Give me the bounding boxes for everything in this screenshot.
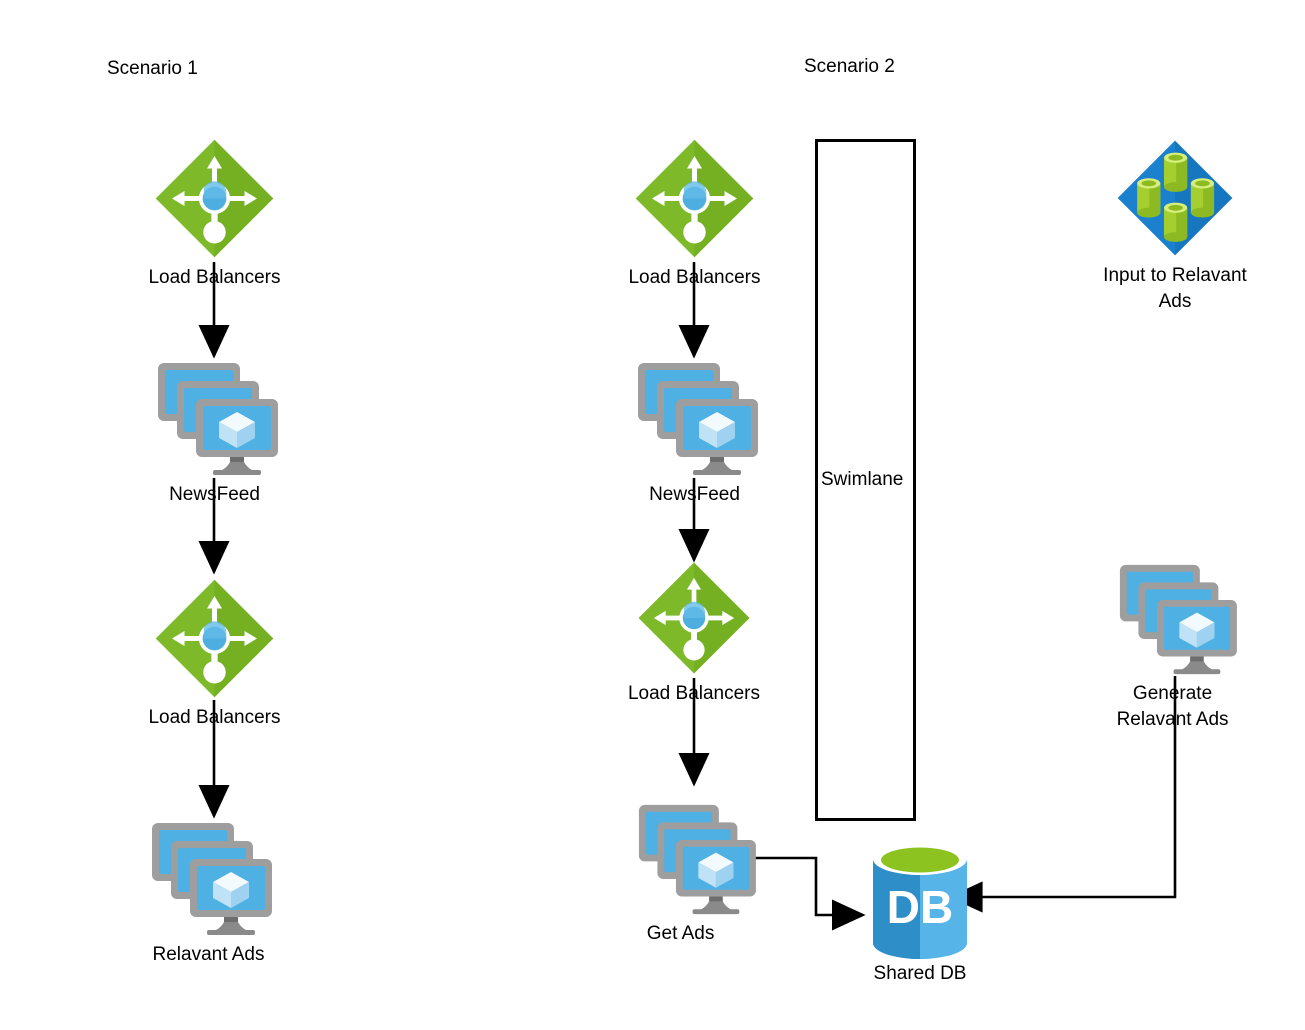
cylinder-left [1137,178,1160,217]
load-balancer-icon [632,136,757,261]
server-stack-icon [152,358,277,478]
server-stack-icon [633,800,755,917]
node-label: Relavant Ads [153,942,265,968]
cylinder-top [1164,153,1187,192]
node-s2-generate-relavant-ads[interactable]: Generate Relavant Ads [1114,560,1236,677]
node-s2-load-balancer-1[interactable]: Load Balancers [632,136,757,261]
node-label: Get Ads [647,921,715,947]
node-label: Input to Relavant Ads [1103,263,1247,315]
node-label: Load Balancers [628,681,760,707]
node-shared-db[interactable]: DB Shared DB [869,845,971,957]
node-s2-load-balancer-2[interactable]: Load Balancers [635,559,753,677]
server-stack-icon [1114,560,1236,677]
load-balancer-icon [152,136,277,261]
cylinder-bottom [1164,203,1187,242]
node-s2-input-to-relavant-ads[interactable]: Input to Relavant Ads [1114,137,1236,259]
node-label: NewsFeed [649,482,740,508]
diagram-canvas: Scenario 1 Scenario 2 Swimlane [0,0,1305,1030]
node-label: Shared DB [874,961,967,987]
node-label: Load Balancers [148,265,280,291]
arrow-getads-to-shareddb [755,858,863,915]
cylinder-right [1191,178,1214,217]
node-label: Load Balancers [148,705,280,731]
node-s1-load-balancer-1[interactable]: Load Balancers [152,136,277,261]
node-label: Load Balancers [628,265,760,291]
server-stack-icon [146,818,271,938]
node-s1-relavant-ads[interactable]: Relavant Ads [146,818,271,938]
svg-text:DB: DB [887,881,953,933]
load-balancer-icon [635,559,753,677]
node-s2-get-ads[interactable]: Get Ads [633,800,755,917]
database-group-icon [1114,137,1236,259]
load-balancer-icon [152,576,277,701]
node-s1-load-balancer-2[interactable]: Load Balancers [152,576,277,701]
node-label: NewsFeed [169,482,260,508]
node-s1-newsfeed[interactable]: NewsFeed [152,358,277,478]
server-stack-icon [632,358,757,478]
shared-db-icon: DB [869,845,971,957]
node-s2-newsfeed[interactable]: NewsFeed [632,358,757,478]
node-label: Generate Relavant Ads [1117,681,1229,733]
